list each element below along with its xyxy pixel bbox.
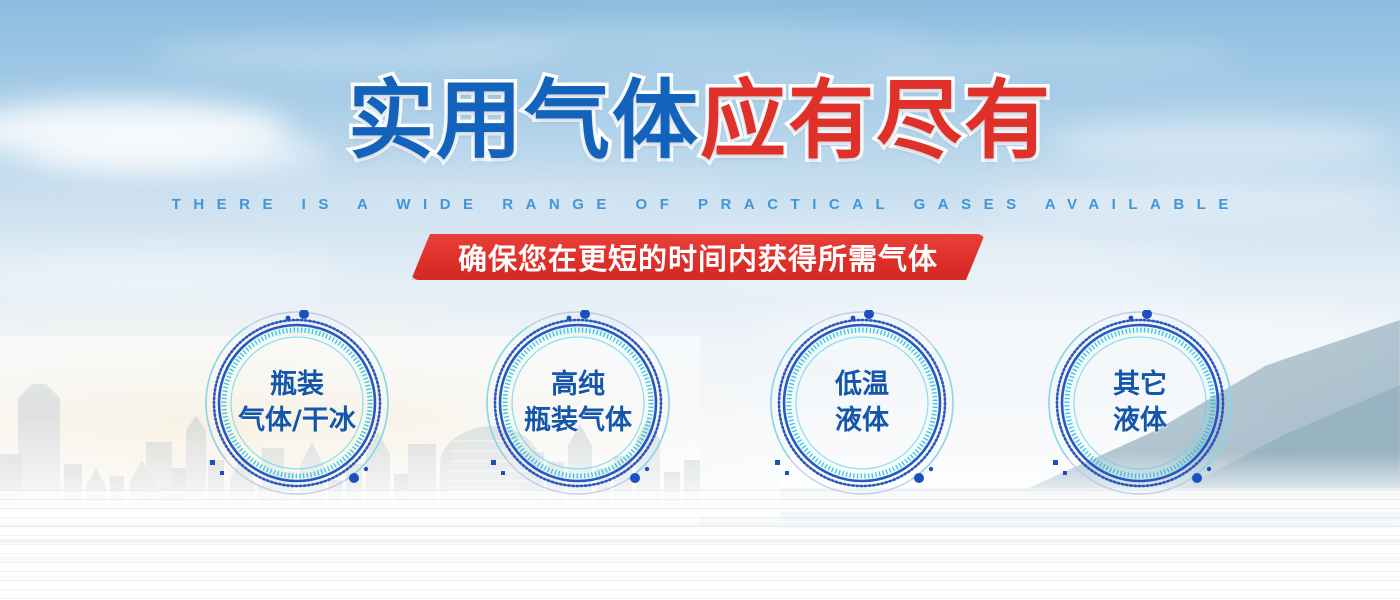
category-circle-other-liquid[interactable]: 其它 液体 (1047, 310, 1233, 496)
category-label-line1: 低温 (835, 370, 889, 400)
category-label-line2: 瓶装气体 (524, 406, 632, 436)
title-container: 实用气体应有尽有 (0, 78, 1400, 164)
title-red-part: 应有尽有 (700, 71, 1052, 171)
page-title: 实用气体应有尽有 (348, 78, 1052, 164)
water-streak (0, 540, 1400, 542)
cloud-wisp (420, 28, 940, 54)
water-streak (0, 524, 1400, 526)
water-foreground (0, 490, 1400, 600)
water-streak (0, 558, 1400, 560)
category-label: 低温 液体 (769, 310, 955, 496)
category-label-line2: 液体 (835, 406, 889, 436)
category-label: 高纯 瓶装气体 (485, 310, 671, 496)
category-circle-cryogenic-liquid[interactable]: 低温 液体 (769, 310, 955, 496)
cloud-wisp (0, 250, 340, 300)
cloud-wisp (860, 44, 1240, 68)
category-circle-high-purity-bottled-gas[interactable]: 高纯 瓶装气体 (485, 310, 671, 496)
promo-banner: 实用气体应有尽有 THERE IS A WIDE RANGE OF PRACTI… (0, 0, 1400, 600)
category-label: 其它 液体 (1047, 310, 1233, 496)
subtitle-english: THERE IS A WIDE RANGE OF PRACTICAL GASES… (0, 196, 1400, 213)
category-label-line2: 气体/干冰 (238, 406, 356, 436)
category-label-line1: 瓶装 (270, 370, 324, 400)
title-blue-part: 实用气体 (348, 71, 700, 171)
ribbon-text-container: 确保您在更短的时间内获得所需气体 (411, 234, 985, 280)
category-label: 瓶装 气体/干冰 (204, 310, 390, 496)
category-label-line1: 其它 (1113, 370, 1167, 400)
category-circle-bottled-gas-dry-ice[interactable]: 瓶装 气体/干冰 (204, 310, 390, 496)
water-streak (0, 576, 1400, 578)
cloud-wisp (150, 40, 570, 70)
ribbon-slogan: 确保您在更短的时间内获得所需气体 (458, 236, 938, 278)
category-label-line1: 高纯 (551, 370, 605, 400)
category-label-line2: 液体 (1113, 406, 1167, 436)
